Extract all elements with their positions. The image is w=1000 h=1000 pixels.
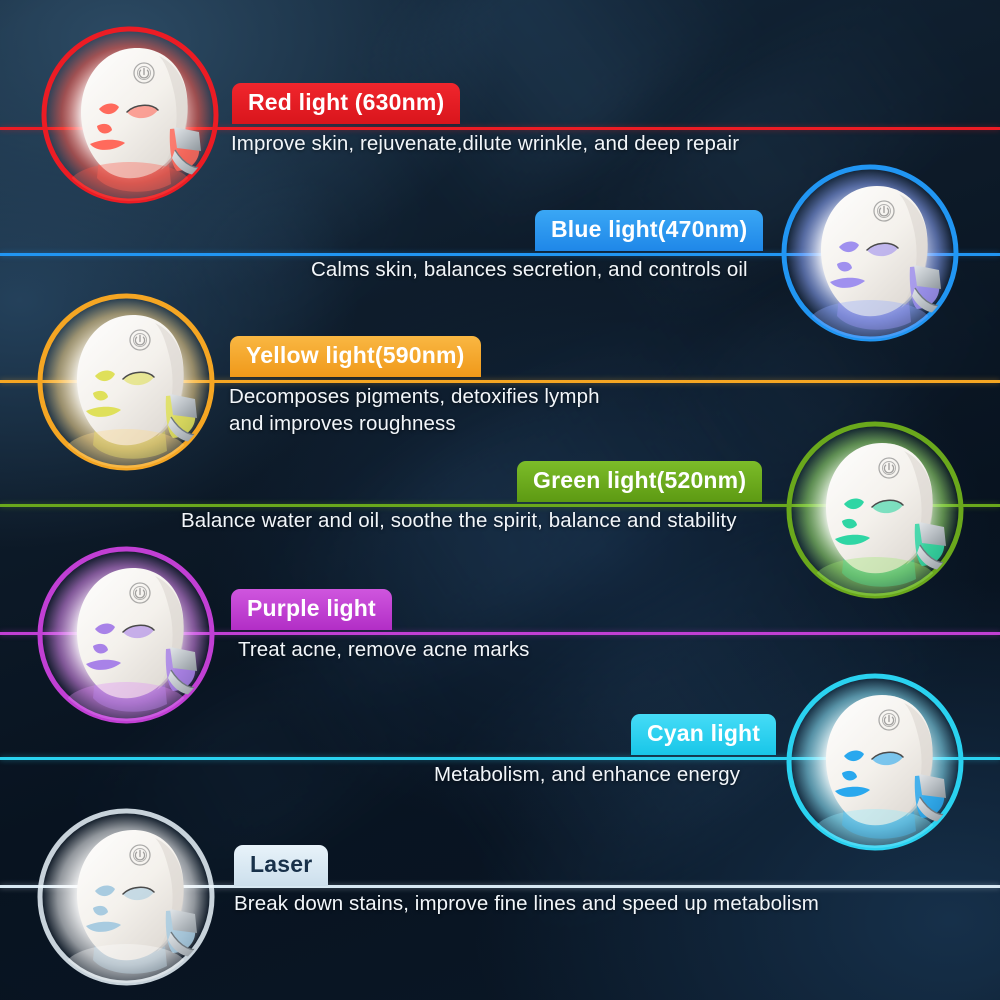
badge-yellow-light[interactable]: Yellow light(590nm) <box>230 336 481 377</box>
description-red-light: Improve skin, rejuvenate,dilute wrinkle,… <box>231 130 739 157</box>
description-cyan-light: Metabolism, and enhance energy <box>434 761 740 788</box>
mask-image-green <box>786 421 964 599</box>
mask-image-red <box>41 26 219 204</box>
mask-image-cyan <box>786 673 964 851</box>
description-purple-light: Treat acne, remove acne marks <box>238 636 530 663</box>
description-blue-light: Calms skin, balances secretion, and cont… <box>311 256 748 283</box>
badge-green-light[interactable]: Green light(520nm) <box>517 461 762 502</box>
mask-image-purple <box>37 546 215 724</box>
mask-image-blue <box>781 164 959 342</box>
mask-image-laser <box>37 808 215 986</box>
badge-cyan-light[interactable]: Cyan light <box>631 714 776 755</box>
description-laser: Break down stains, improve fine lines an… <box>234 890 819 917</box>
badge-blue-light[interactable]: Blue light(470nm) <box>535 210 763 251</box>
badge-red-light[interactable]: Red light (630nm) <box>232 83 460 124</box>
mask-image-yellow <box>37 293 215 471</box>
description-green-light: Balance water and oil, soothe the spirit… <box>181 507 737 534</box>
description-yellow-light: Decomposes pigments, detoxifies lymph an… <box>229 383 600 438</box>
badge-laser[interactable]: Laser <box>234 845 328 886</box>
badge-purple-light[interactable]: Purple light <box>231 589 392 630</box>
